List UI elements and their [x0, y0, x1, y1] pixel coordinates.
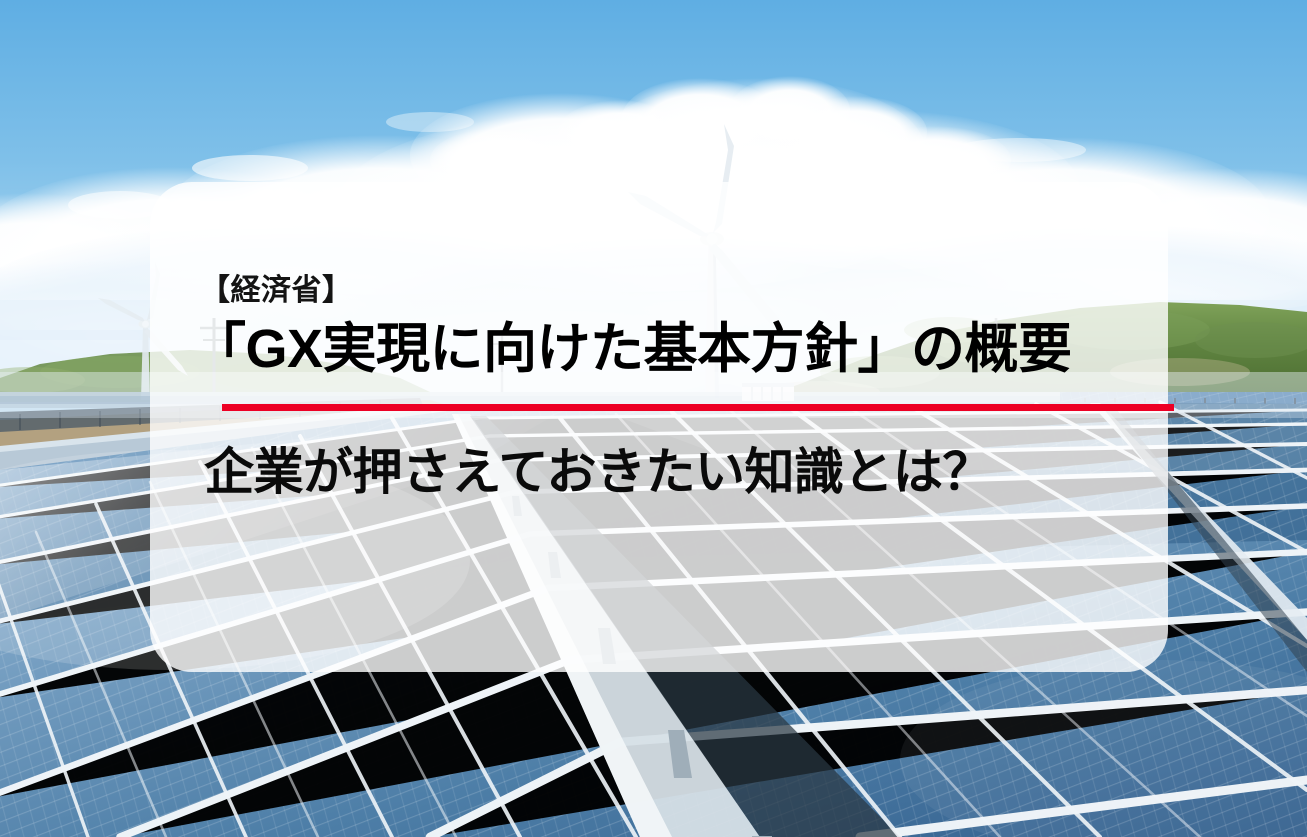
title-card-overlay: 【経済省】 「GX実現に向けた基本方針」の概要 企業が押さえておきたい知識とは？: [150, 182, 1168, 672]
title-card-content: 【経済省】 「GX実現に向けた基本方針」の概要 企業が押さえておきたい知識とは？: [150, 182, 1168, 672]
thumbnail-canvas: 【経済省】 「GX実現に向けた基本方針」の概要 企業が押さえておきたい知識とは？: [0, 0, 1307, 837]
kicker-label: 【経済省】: [200, 276, 1168, 306]
page-subtitle: 企業が押さえておきたい知識とは？: [204, 445, 1168, 500]
page-title: 「GX実現に向けた基本方針」の概要: [192, 320, 1168, 378]
title-divider: [222, 404, 1174, 411]
